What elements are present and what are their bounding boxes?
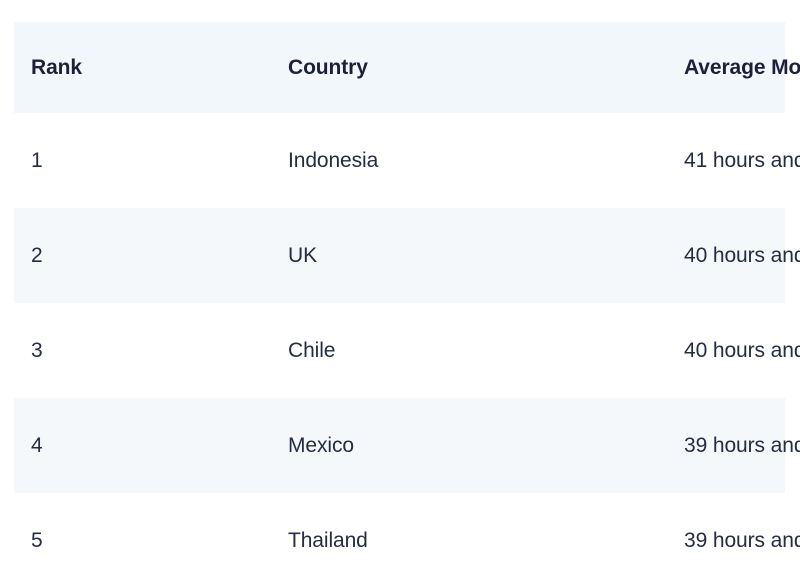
cell-rank: 3 (14, 303, 142, 398)
table-row: 4 Mexico 39 hours and 58 minutes (14, 398, 785, 493)
cell-rank: 4 (14, 398, 142, 493)
country-ranking-table: Rank Country Average Monthly Time 1 Indo… (14, 22, 785, 588)
table-row: 3 Chile 40 hours and 1 minute (14, 303, 785, 398)
column-header-country[interactable]: Country (142, 22, 340, 113)
table-header: Rank Country Average Monthly Time (14, 22, 785, 113)
cell-time: 41 hours and 35 minutes (340, 113, 785, 208)
cell-rank: 1 (14, 113, 142, 208)
table-row: 5 Thailand 39 hours and 14 minutes (14, 493, 785, 588)
cell-time: 39 hours and 58 minutes (340, 398, 785, 493)
table-row: 2 UK 40 hours and 50 minutes (14, 208, 785, 303)
page-root: Rank Country Average Monthly Time 1 Indo… (0, 0, 800, 580)
column-header-rank[interactable]: Rank (14, 22, 142, 113)
table-row: 1 Indonesia 41 hours and 35 minutes (14, 113, 785, 208)
cell-rank: 2 (14, 208, 142, 303)
cell-country: Mexico (142, 398, 340, 493)
column-header-time[interactable]: Average Monthly Time (340, 22, 785, 113)
cell-country: Chile (142, 303, 340, 398)
cell-time: 40 hours and 50 minutes (340, 208, 785, 303)
cell-time: 40 hours and 1 minute (340, 303, 785, 398)
cell-country: Thailand (142, 493, 340, 588)
cell-country: Indonesia (142, 113, 340, 208)
cell-country: UK (142, 208, 340, 303)
table-body: 1 Indonesia 41 hours and 35 minutes 2 UK… (14, 113, 785, 588)
cell-time: 39 hours and 14 minutes (340, 493, 785, 588)
table-header-row: Rank Country Average Monthly Time (14, 22, 785, 113)
cell-rank: 5 (14, 493, 142, 588)
